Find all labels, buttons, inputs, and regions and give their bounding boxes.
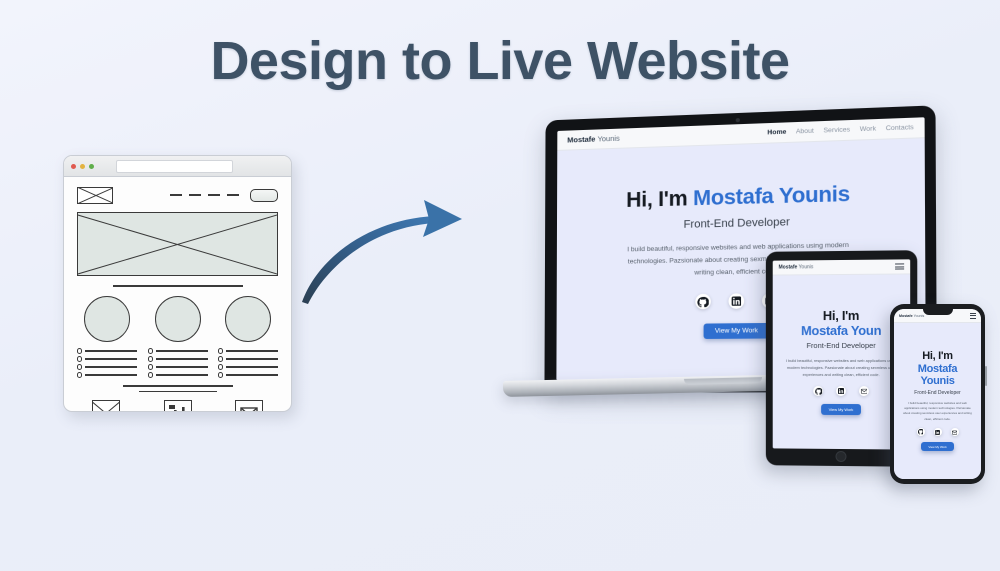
bullet-icon <box>218 372 223 377</box>
tablet-hero-subtitle: Front-End Developer <box>806 341 875 350</box>
nav-item-about[interactable]: About <box>796 128 814 136</box>
wireframe-bullet-row <box>148 356 208 361</box>
phone-device: Mostafe Younis Hi, I'mMostafaYounis Fron… <box>890 304 985 484</box>
bullet-icon <box>77 364 82 369</box>
hamburger-icon[interactable] <box>895 263 904 269</box>
phone-screen: Mostafe Younis Hi, I'mMostafaYounis Fron… <box>894 309 981 479</box>
wireframe-nav-dash <box>227 194 239 196</box>
email-icon[interactable] <box>859 386 869 396</box>
wireframe-url-bar <box>116 160 233 173</box>
phone-site-hero: Hi, I'mMostafaYounis Front-End Developer… <box>894 323 981 479</box>
linkedin-icon[interactable] <box>729 294 745 310</box>
bullet-icon <box>77 348 82 353</box>
phone-hero-subtitle: Front-End Developer <box>914 390 960 396</box>
phone-hero-heading: Hi, I'mMostafaYounis <box>918 350 957 386</box>
wireframe-avatar-circle <box>225 296 271 342</box>
tablet-site-navbar: Mostafe Younis <box>773 259 910 275</box>
window-close-dot <box>71 164 76 169</box>
webcam-icon <box>735 118 739 122</box>
tablet-hero-social-icons <box>813 386 869 396</box>
bullet-icon <box>148 372 153 377</box>
wireframe-bullet-row <box>77 356 137 361</box>
wireframe-bullet-row <box>77 372 137 377</box>
phone-hero-social-icons <box>917 428 959 436</box>
wireframe-bullet-row <box>218 356 278 361</box>
wireframe-bullet-list <box>218 348 278 377</box>
wireframe-bullet-row <box>148 348 208 353</box>
poster-stage: Design to Live Website <box>0 0 1000 571</box>
phone-notch <box>923 308 953 315</box>
wireframe-mockup <box>63 155 292 412</box>
bullet-icon <box>77 372 82 377</box>
tablet-hero-heading: Hi, I'mMostafa Youn <box>801 309 881 338</box>
site-menu: Home About Services Work Contacts <box>767 124 913 137</box>
wireframe-body <box>64 177 291 412</box>
bullet-icon <box>218 364 223 369</box>
wireframe-cta-button <box>250 189 278 202</box>
wireframe-logo-placeholder <box>77 187 113 204</box>
phone-hero-paragraph: I build beautiful, responsive websites a… <box>902 401 974 423</box>
envelope-icon <box>235 400 263 412</box>
wireframe-bullet-row <box>77 348 137 353</box>
wireframe-browser-chrome <box>64 156 291 177</box>
wireframe-bullet-row <box>218 372 278 377</box>
tablet-home-button[interactable] <box>836 451 847 462</box>
wireframe-cards <box>77 400 278 412</box>
github-icon[interactable] <box>695 294 711 310</box>
hero-heading: Hi, I'm Mostafa Younis <box>626 182 850 213</box>
image-placeholder-icon <box>92 400 120 412</box>
view-my-work-button[interactable]: View My Work <box>703 323 769 339</box>
wireframe-section-subheading <box>139 391 217 393</box>
wireframe-header <box>77 187 278 203</box>
window-maximize-dot <box>89 164 94 169</box>
tablet-hero-paragraph: I build beautiful, responsive websites a… <box>781 357 903 378</box>
bullet-icon <box>218 356 223 361</box>
nav-item-services[interactable]: Services <box>823 126 850 134</box>
linkedin-icon[interactable] <box>934 428 942 436</box>
window-minimize-dot <box>80 164 85 169</box>
email-icon[interactable] <box>951 428 959 436</box>
wireframe-feature-column <box>77 296 137 377</box>
phone-site-logo: Mostafe Younis <box>899 314 924 318</box>
wireframe-avatar-circle <box>155 296 201 342</box>
wireframe-section-heading <box>113 285 243 287</box>
wireframe-card <box>77 400 135 412</box>
wireframe-bullet-row <box>218 364 278 369</box>
bullet-icon <box>218 348 223 353</box>
wireframe-nav-dash <box>189 194 201 196</box>
wireframe-hero-placeholder <box>77 212 278 276</box>
page-title: Design to Live Website <box>0 30 1000 92</box>
device-cluster: Mostafe Younis Home About Services Work … <box>415 108 1000 528</box>
tablet-view-my-work-button[interactable]: View My Work <box>821 404 862 415</box>
wireframe-nav-dash <box>170 194 182 196</box>
wireframe-bullet-list <box>148 348 208 377</box>
hamburger-icon[interactable] <box>970 313 976 319</box>
wireframe-card <box>149 400 207 412</box>
wireframe-card <box>220 400 278 412</box>
nav-item-contacts[interactable]: Contacts <box>886 124 914 132</box>
phone-view-my-work-button[interactable]: View My Work <box>921 442 953 451</box>
wireframe-nav <box>170 189 278 202</box>
tablet-site-logo: Mostafe Younis <box>779 264 814 270</box>
wireframe-bullet-row <box>148 372 208 377</box>
wireframe-bullet-row <box>148 364 208 369</box>
wireframe-avatar-circle <box>84 296 130 342</box>
hero-subtitle: Front-End Developer <box>683 216 789 231</box>
nav-item-work[interactable]: Work <box>860 125 876 133</box>
wireframe-section-heading-2 <box>123 385 233 387</box>
wireframe-bullet-row <box>77 364 137 369</box>
wireframe-feature-column <box>218 296 278 377</box>
wireframe-feature-columns <box>77 296 278 377</box>
laptop-trackpad-notch <box>684 377 762 385</box>
wireframe-feature-column <box>148 296 208 377</box>
github-icon[interactable] <box>917 428 925 436</box>
site-logo: Mostafe Younis <box>567 134 620 145</box>
nav-item-home[interactable]: Home <box>767 129 786 137</box>
github-icon[interactable] <box>813 386 823 396</box>
wireframe-nav-dash <box>208 194 220 196</box>
bullet-icon <box>77 356 82 361</box>
bullet-icon <box>148 356 153 361</box>
chart-icon <box>164 400 192 412</box>
phone-power-button[interactable] <box>985 366 987 386</box>
wireframe-bullet-list <box>77 348 137 377</box>
wireframe-bullet-row <box>218 348 278 353</box>
linkedin-icon[interactable] <box>836 386 846 396</box>
bullet-icon <box>148 364 153 369</box>
bullet-icon <box>148 348 153 353</box>
